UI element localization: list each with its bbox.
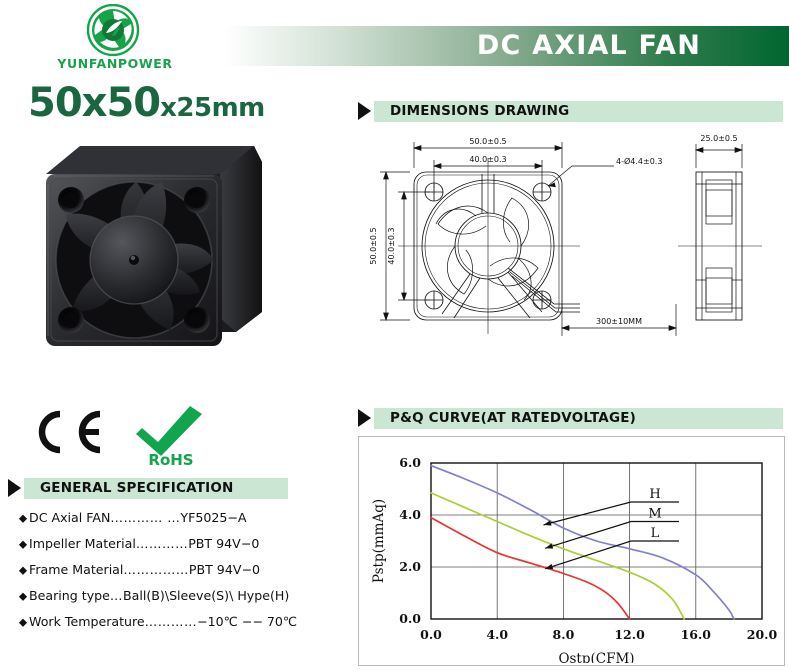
diamond-bullet-icon: ◆	[19, 611, 28, 633]
product-size-title: 50x50x25mm	[28, 80, 265, 126]
x-tick-label: 16.0	[681, 627, 712, 642]
x-axis-label: Qstp(CFM)	[558, 651, 634, 663]
fan-swirl-logo-icon	[77, 4, 149, 56]
pq-curve-chart: HML0.04.08.012.016.020.00.02.04.06.0Qstp…	[359, 437, 782, 663]
spec-label: Bearing type	[29, 583, 110, 609]
x-tick-label: 4.0	[486, 627, 508, 642]
y-tick-label: 2.0	[399, 559, 421, 574]
section-header-dimensions-drawing: DIMENSIONS DRAWING	[358, 101, 783, 122]
dimensions-drawing-panel: 50.0±0.5 40.0±0.3 50.0±0.5 40.0±0.3 4-Ø4…	[358, 128, 783, 378]
spec-value: −10℃ −− 70℃	[197, 609, 297, 635]
product-size-main: 50x50	[28, 80, 160, 126]
spec-dots: …	[110, 583, 123, 609]
spec-value: PBT 94V−0	[189, 557, 260, 583]
section-header-general-specification: GENERAL SPECIFICATION	[8, 478, 288, 499]
x-tick-label: 20.0	[747, 627, 778, 642]
x-tick-label: 0.0	[420, 627, 442, 642]
pq-curve-panel: HML0.04.08.012.016.020.00.02.04.06.0Qstp…	[358, 436, 785, 666]
spec-label: Impeller Material	[29, 531, 136, 557]
spec-dots: ………… …	[110, 505, 180, 531]
diamond-bullet-icon: ◆	[19, 585, 28, 607]
spec-row: ◆ DC Axial FAN ………… … YF5025−A	[18, 505, 348, 531]
diamond-bullet-icon: ◆	[19, 533, 28, 555]
diamond-bullet-icon: ◆	[19, 559, 28, 581]
dim-width-overall: 50.0±0.5	[469, 137, 506, 146]
spec-label: DC Axial FAN	[29, 505, 110, 531]
brand-logo: YUNFANPOWER	[50, 4, 180, 72]
dim-thickness: 25.0±0.5	[700, 134, 737, 143]
spec-value: PBT 94V−0	[188, 531, 259, 557]
certification-marks: RoHS	[30, 404, 220, 476]
section-title-dimensions: DIMENSIONS DRAWING	[390, 101, 569, 122]
triangle-marker-icon	[358, 102, 371, 120]
dim-hole-note: 4-Ø4.4±0.3	[616, 156, 662, 166]
dimensions-drawing-svg: 50.0±0.5 40.0±0.3 50.0±0.5 40.0±0.3 4-Ø4…	[358, 128, 783, 378]
product-size-sub: x25mm	[160, 93, 265, 123]
rohs-label: RoHS	[128, 451, 214, 469]
ce-mark-icon	[30, 408, 106, 456]
y-tick-label: 0.0	[399, 611, 421, 626]
spec-value: YF5025−A	[180, 505, 246, 531]
curve-M	[431, 493, 684, 619]
section-title-general: GENERAL SPECIFICATION	[40, 478, 234, 499]
spec-value: Ball(B)\Sleeve(S)\ Hype(H)	[123, 583, 289, 609]
spec-dots: …………	[136, 531, 188, 557]
section-header-pq-curve: P&Q CURVE(AT RATEDVOLTAGE)	[358, 408, 783, 429]
triangle-marker-icon	[8, 479, 21, 497]
curve-label-L: L	[651, 526, 660, 541]
brand-name: YUNFANPOWER	[50, 56, 180, 71]
dc-axial-fan-photo	[22, 132, 284, 364]
diamond-bullet-icon: ◆	[19, 507, 28, 529]
leader-arrow-L	[545, 564, 553, 569]
spec-row: ◆ Bearing type … Ball(B)\Sleeve(S)\ Hype…	[18, 583, 348, 609]
spec-dots: …………	[145, 609, 197, 635]
spec-dots: ……………	[123, 557, 188, 583]
dim-lead-wire: 300±10MM	[596, 317, 642, 326]
specification-list: ◆ DC Axial FAN ………… … YF5025−A◆ Impeller…	[18, 505, 348, 635]
y-tick-label: 4.0	[399, 507, 421, 522]
section-title-pq: P&Q CURVE(AT RATEDVOLTAGE)	[390, 408, 636, 429]
spec-row: ◆ Frame Material …………… PBT 94V−0	[18, 557, 348, 583]
spec-label: Work Temperature	[29, 609, 145, 635]
dim-height-overall: 50.0±0.5	[369, 227, 378, 264]
spec-row: ◆ Impeller Material ………… PBT 94V−0	[18, 531, 348, 557]
curve-L	[431, 518, 630, 619]
page-title: DC AXIAL FAN	[477, 26, 701, 66]
spec-label: Frame Material	[29, 557, 123, 583]
x-tick-label: 8.0	[553, 627, 575, 642]
y-tick-label: 6.0	[399, 455, 421, 470]
dim-width-hole-pitch: 40.0±0.3	[469, 155, 506, 164]
triangle-marker-icon	[358, 409, 371, 427]
leader-arrow-H	[544, 520, 552, 525]
dim-height-hole-pitch: 40.0±0.3	[387, 227, 396, 264]
y-axis-label: Pstp(mmAq)	[371, 499, 387, 583]
x-tick-label: 12.0	[614, 627, 645, 642]
curve-label-H: H	[649, 487, 660, 502]
curve-label-M: M	[648, 507, 661, 522]
spec-row: ◆ Work Temperature ………… −10℃ −− 70℃	[18, 609, 348, 635]
